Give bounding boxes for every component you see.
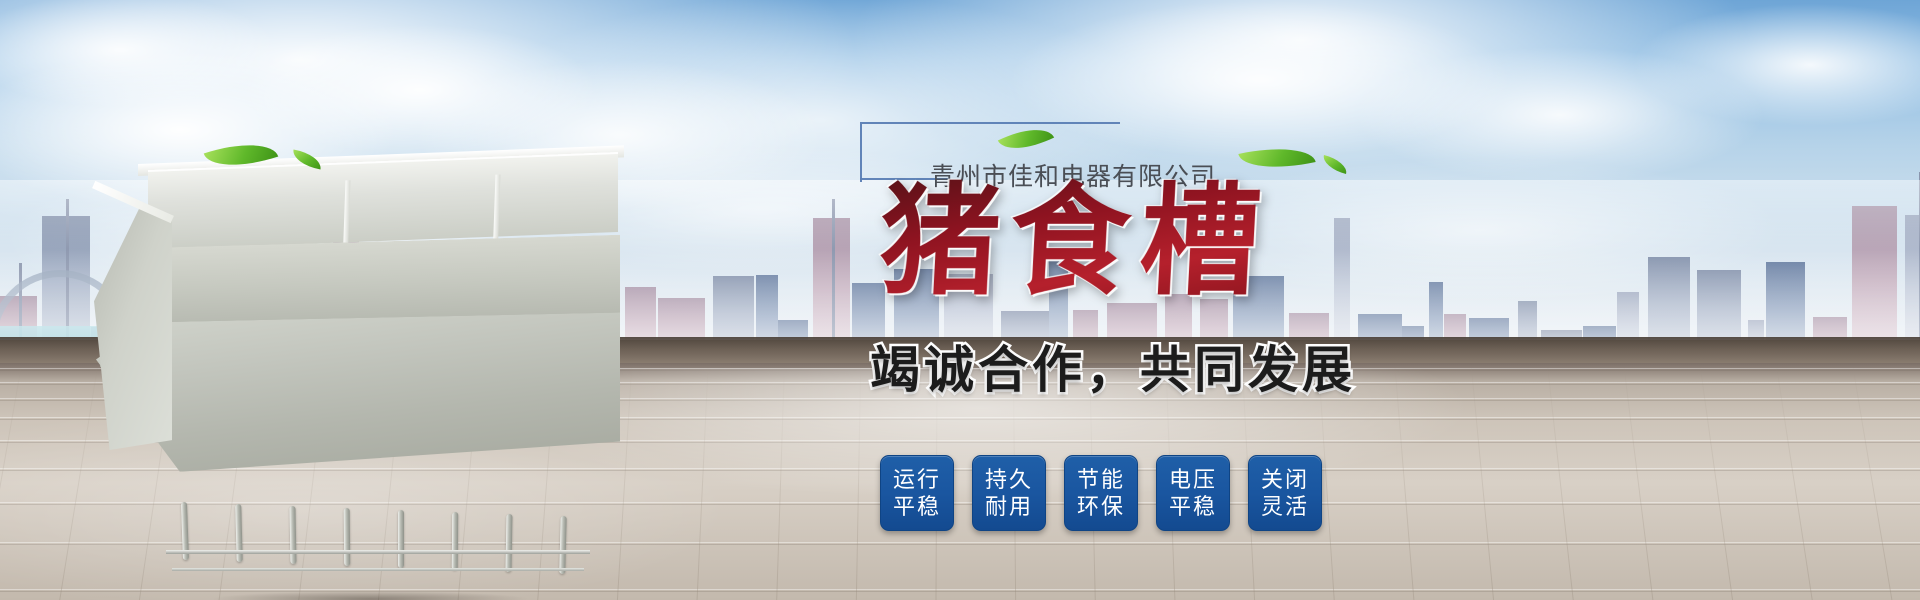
feature-badge-5[interactable]: 关闭灵活 bbox=[1248, 455, 1322, 531]
feature-badge-line1: 关闭 bbox=[1261, 467, 1309, 493]
subtitle-slogan: 竭诚合作，共同发展 bbox=[870, 340, 1430, 400]
feature-badge-line1: 节能 bbox=[1077, 467, 1125, 493]
trough-back-wall bbox=[148, 152, 618, 250]
feature-badge-3[interactable]: 节能环保 bbox=[1064, 455, 1138, 531]
product-shadow bbox=[150, 588, 590, 600]
feature-badge-line2: 平稳 bbox=[1169, 494, 1217, 520]
feature-badge-2[interactable]: 持久耐用 bbox=[972, 455, 1046, 531]
feature-badge-line2: 灵活 bbox=[1261, 494, 1309, 520]
feature-badge-line1: 电压 bbox=[1169, 467, 1217, 493]
trough-divider-bar bbox=[289, 506, 296, 564]
feature-badge-4[interactable]: 电压平稳 bbox=[1156, 455, 1230, 531]
trough-left-side-panel bbox=[94, 202, 172, 450]
feature-badge-list: 运行平稳持久耐用节能环保电压平稳关闭灵活 bbox=[880, 455, 1322, 531]
feature-badge-line2: 耐用 bbox=[985, 494, 1033, 520]
trough-lower-rail-secondary bbox=[172, 568, 584, 571]
trough-front-wall bbox=[96, 313, 620, 474]
product-image-pig-feeder-trough bbox=[60, 150, 580, 480]
promo-banner: 青州市佳和电器有限公司 猪食槽 竭诚合作，共同发展 运行平稳持久耐用节能环保电压… bbox=[0, 0, 1920, 600]
trough-divider-bar bbox=[505, 514, 512, 572]
feature-badge-1[interactable]: 运行平稳 bbox=[880, 455, 954, 531]
page-title: 猪食槽 bbox=[877, 178, 1384, 308]
feature-badge-line1: 运行 bbox=[893, 467, 941, 493]
trough-divider-bar bbox=[398, 510, 404, 568]
trough-divider-bar bbox=[344, 508, 351, 566]
trough-divider-bar bbox=[452, 512, 459, 570]
feature-badge-line1: 持久 bbox=[985, 467, 1033, 493]
trough-lower-rail bbox=[166, 550, 590, 554]
feature-badge-line2: 环保 bbox=[1077, 494, 1125, 520]
feature-badge-line2: 平稳 bbox=[893, 494, 941, 520]
